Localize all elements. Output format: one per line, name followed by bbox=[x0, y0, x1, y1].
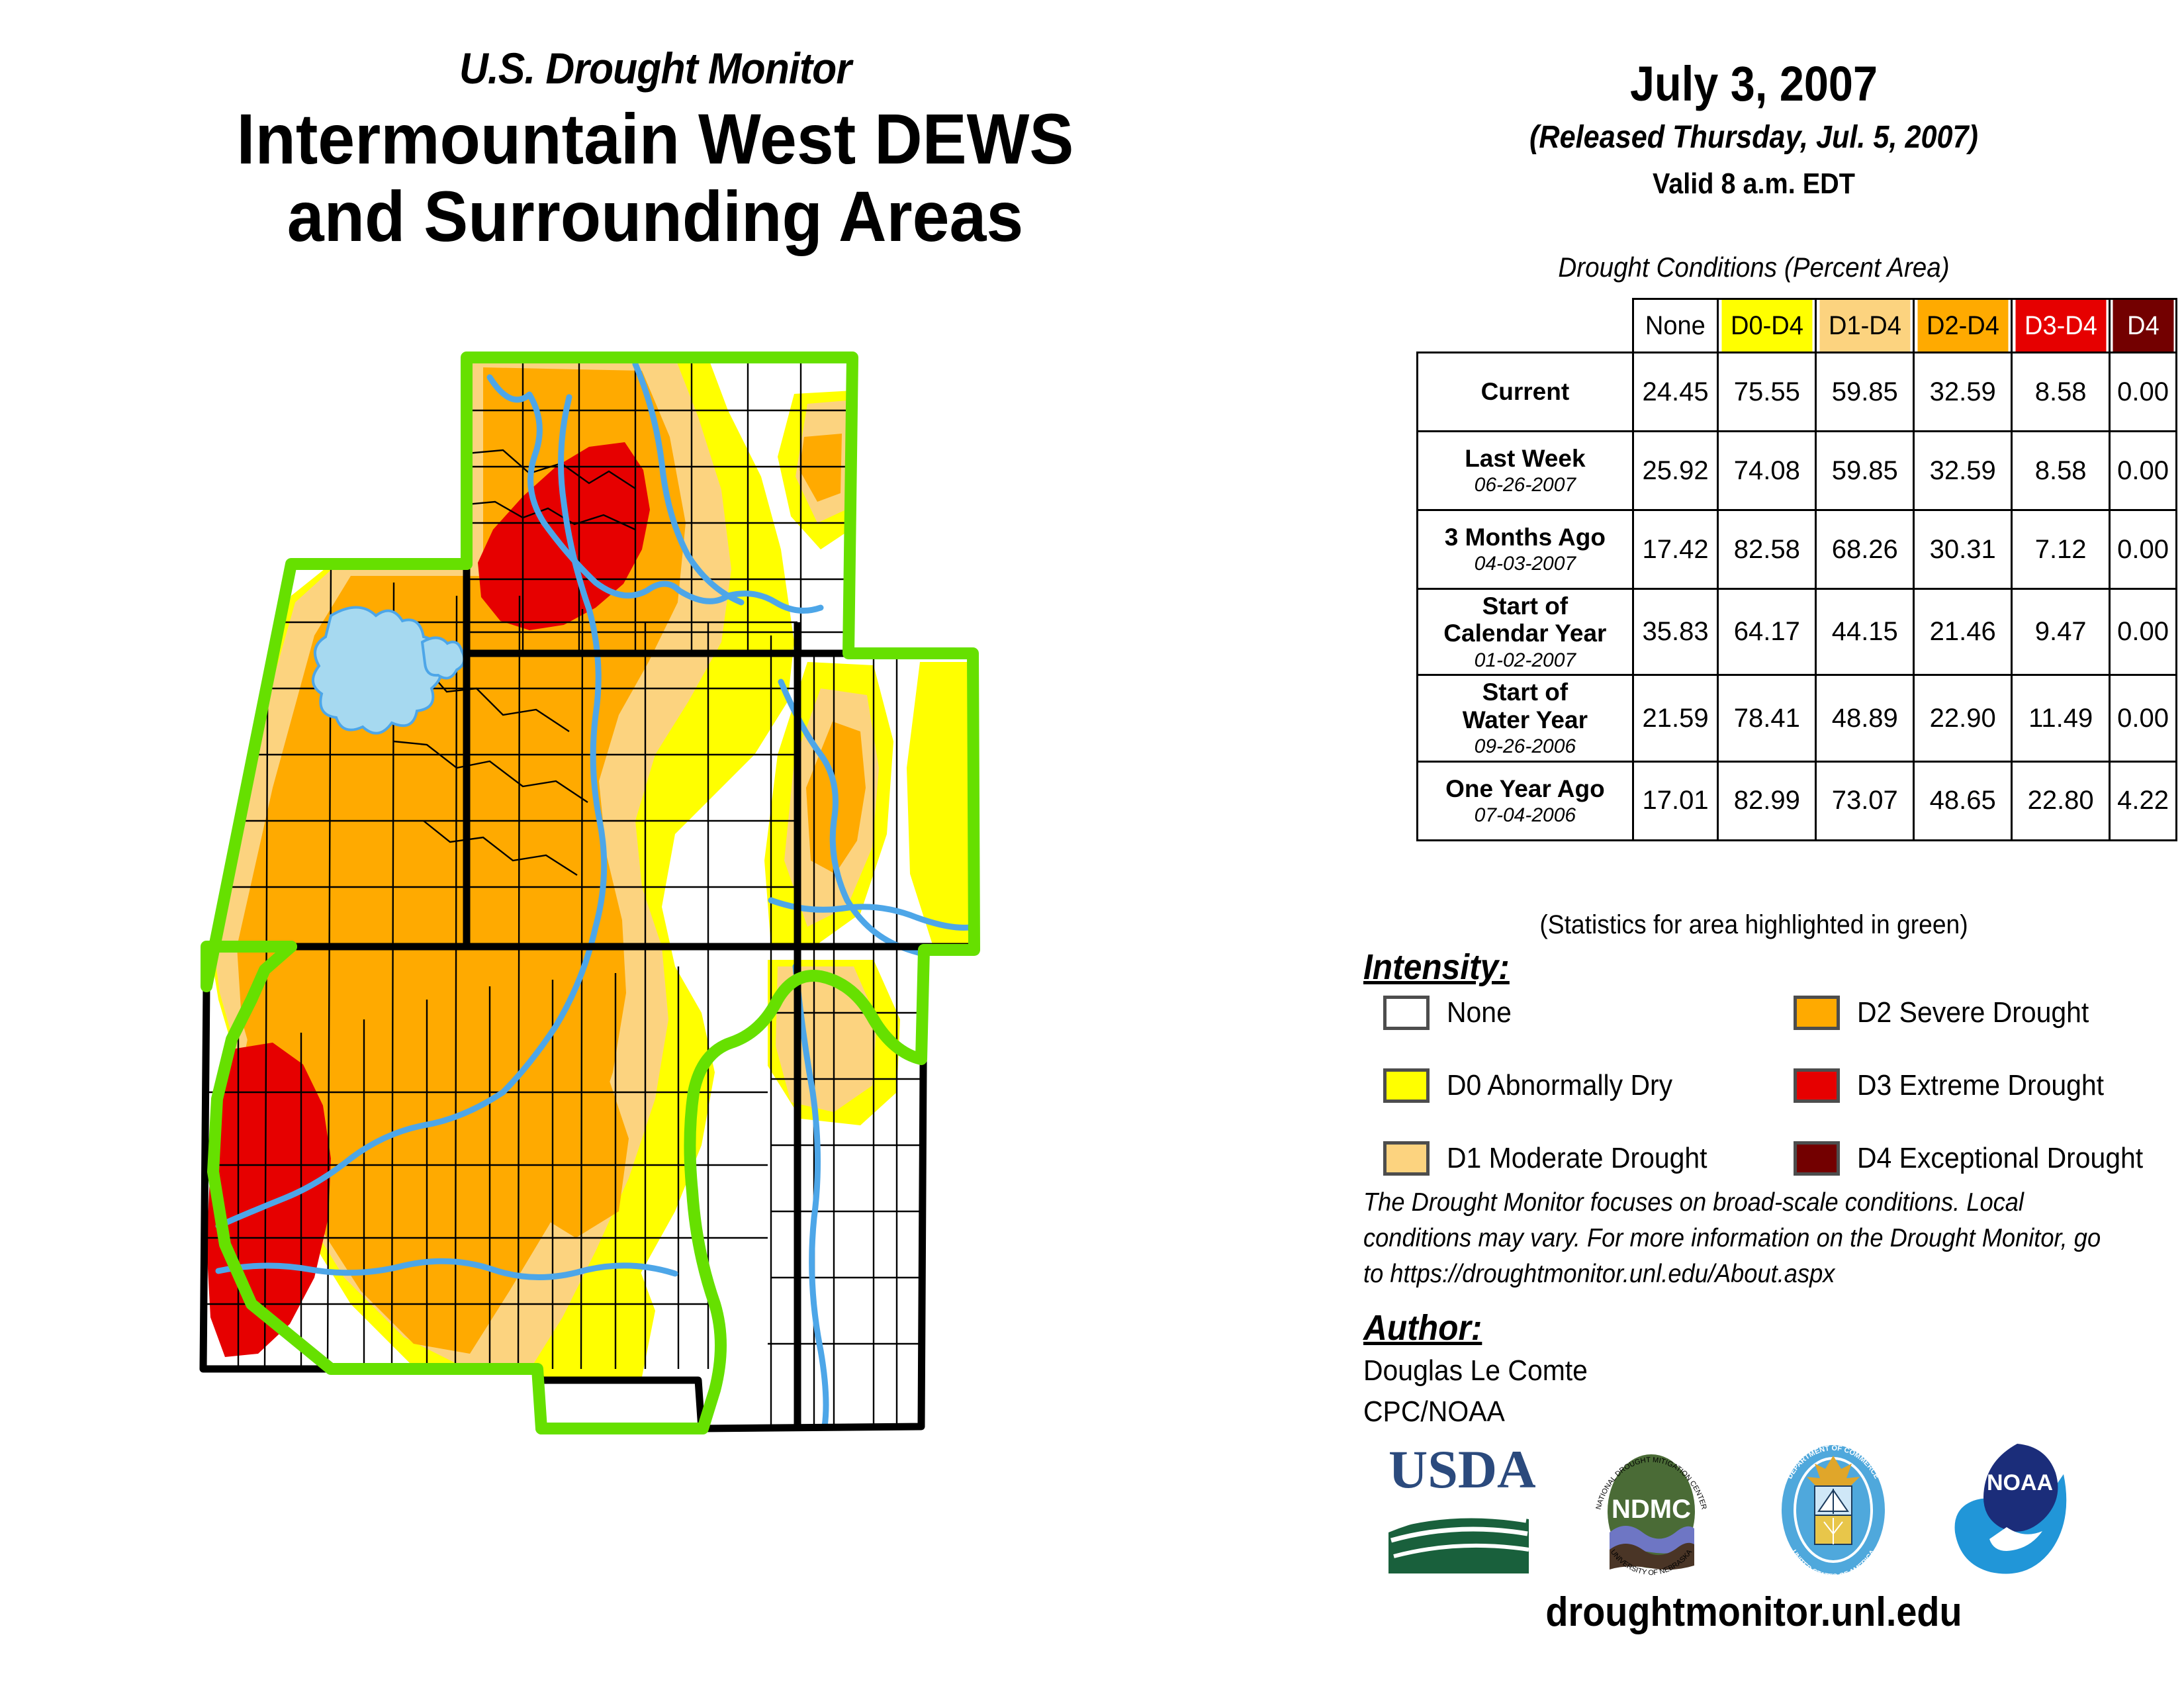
table-row: Last Week06-26-200725.9274.0859.8532.598… bbox=[1418, 432, 2177, 510]
author-name: Douglas Le Comte bbox=[1363, 1350, 1588, 1391]
table-cell: 21.46 bbox=[1914, 589, 2012, 675]
title-line-2: and Surrounding Areas bbox=[83, 178, 1228, 256]
valid-time-note: Valid 8 a.m. EDT bbox=[1367, 167, 2141, 201]
legend-label: D2 Severe Drought bbox=[1857, 996, 2089, 1029]
row-label-main: Start ofWater Year bbox=[1463, 679, 1588, 733]
legend-item: D0 Abnormally Dry bbox=[1383, 1059, 1727, 1112]
ndmc-logo-svg: NDMC NATIONAL DROUGHT MITIGATION CENTER … bbox=[1582, 1440, 1721, 1582]
logo-row: USDA NDMC NATIONAL DROUGHT MITI bbox=[1363, 1440, 2177, 1592]
table-body: Current24.4575.5559.8532.598.580.00Last … bbox=[1418, 353, 2177, 841]
header-d1-d4: D1-D4 bbox=[1818, 299, 1911, 353]
usda-logo: USDA bbox=[1383, 1440, 1535, 1582]
table-cell: 74.08 bbox=[1718, 432, 1816, 510]
disclaimer-text: The Drought Monitor focuses on broad-sca… bbox=[1363, 1185, 2120, 1291]
author-block: Douglas Le Comte CPC/NOAA bbox=[1363, 1350, 1588, 1433]
page-title: Intermountain West DEWS and Surrounding … bbox=[83, 101, 1228, 255]
row-label: 3 Months Ago04-03-2007 bbox=[1418, 510, 1633, 589]
super-title: U.S. Drought Monitor bbox=[89, 46, 1221, 90]
author-heading: Author: bbox=[1363, 1307, 1482, 1348]
ndmc-text: NDMC bbox=[1612, 1495, 1691, 1524]
legend-swatch bbox=[1383, 1141, 1430, 1176]
row-label-date: 01-02-2007 bbox=[1422, 649, 1628, 672]
row-label: Start ofCalendar Year01-02-2007 bbox=[1418, 589, 1633, 675]
table-cell: 25.92 bbox=[1633, 432, 1718, 510]
legend-swatch bbox=[1794, 996, 1840, 1030]
table-cell: 17.01 bbox=[1633, 761, 1718, 840]
row-label-main: One Year Ago bbox=[1445, 775, 1605, 802]
row-label: Current bbox=[1418, 353, 1633, 432]
table-cell: 0.00 bbox=[2110, 353, 2177, 432]
statistics-note: (Statistics for area highlighted in gree… bbox=[1354, 910, 2154, 940]
noaa-logo-svg: NOAA bbox=[1946, 1440, 2088, 1582]
table-cell: 82.58 bbox=[1718, 510, 1816, 589]
legend-label: D1 Moderate Drought bbox=[1447, 1142, 1707, 1175]
table-cell: 0.00 bbox=[2110, 510, 2177, 589]
table-cell: 59.85 bbox=[1816, 353, 1914, 432]
table-cell: 8.58 bbox=[2012, 432, 2110, 510]
table-cell: 0.00 bbox=[2110, 432, 2177, 510]
table-row: 3 Months Ago04-03-200717.4282.5868.2630.… bbox=[1418, 510, 2177, 589]
row-label-date: 04-03-2007 bbox=[1422, 553, 1628, 575]
table-cell: 0.00 bbox=[2110, 675, 2177, 761]
doc-logo: DEPARTMENT OF COMMERCE UNITED STATES OF … bbox=[1767, 1440, 1899, 1585]
drought-map[interactable] bbox=[132, 331, 1324, 1575]
table-row: One Year Ago07-04-200617.0182.9973.0748.… bbox=[1418, 761, 2177, 840]
author-affiliation: CPC/NOAA bbox=[1363, 1391, 1588, 1432]
issue-date: July 3, 2007 bbox=[1367, 60, 2141, 109]
table-cell: 22.80 bbox=[2012, 761, 2110, 840]
drought-map-svg[interactable] bbox=[132, 331, 1324, 1575]
row-label-date: 07-04-2006 bbox=[1422, 804, 1628, 827]
release-note: (Released Thursday, Jul. 5, 2007) bbox=[1367, 119, 2141, 156]
table-cell: 22.90 bbox=[1914, 675, 2012, 761]
table-cell: 9.47 bbox=[2012, 589, 2110, 675]
usda-logo-text: USDA bbox=[1388, 1440, 1535, 1499]
row-label-main: Current bbox=[1481, 378, 1570, 405]
table-cell: 35.83 bbox=[1633, 589, 1718, 675]
usda-logo-svg: USDA bbox=[1383, 1440, 1535, 1579]
table-cell: 7.12 bbox=[2012, 510, 2110, 589]
doc-logo-svg: DEPARTMENT OF COMMERCE UNITED STATES OF … bbox=[1767, 1440, 1899, 1582]
header-d0-d4: D0-D4 bbox=[1721, 299, 1814, 353]
row-label-main: Last Week bbox=[1465, 445, 1585, 472]
table-cell: 64.17 bbox=[1718, 589, 1816, 675]
table-row: Start ofCalendar Year01-02-200735.8364.1… bbox=[1418, 589, 2177, 675]
legend-column-left: NoneD0 Abnormally DryD1 Moderate Drought bbox=[1383, 986, 1727, 1205]
legend-label: D0 Abnormally Dry bbox=[1447, 1069, 1672, 1102]
table-cell: 30.31 bbox=[1914, 510, 2012, 589]
table-cell: 21.59 bbox=[1633, 675, 1718, 761]
table-row: Start ofWater Year09-26-200621.5978.4148… bbox=[1418, 675, 2177, 761]
legend-item: D4 Exceptional Drought bbox=[1794, 1132, 2165, 1185]
legend-label: None bbox=[1447, 996, 1512, 1029]
table-caption: Drought Conditions (Percent Area) bbox=[1358, 252, 2150, 283]
legend-heading: Intensity: bbox=[1363, 947, 1510, 988]
table-cell: 68.26 bbox=[1816, 510, 1914, 589]
table-cell: 32.59 bbox=[1914, 353, 2012, 432]
header-none: None bbox=[1635, 299, 1715, 353]
legend-swatch bbox=[1383, 996, 1430, 1030]
drought-statistics-table: None D0-D4 D1-D4 D2-D4 D3-D4 D4 Current2… bbox=[1416, 298, 2177, 841]
row-label-main: 3 Months Ago bbox=[1445, 524, 1606, 551]
header-blank-cell bbox=[1423, 299, 1627, 353]
row-label: One Year Ago07-04-2006 bbox=[1418, 761, 1633, 840]
title-line-1: Intermountain West DEWS bbox=[83, 101, 1228, 178]
row-label: Last Week06-26-2007 bbox=[1418, 432, 1633, 510]
title-block: U.S. Drought Monitor Intermountain West … bbox=[40, 46, 1271, 255]
legend-item: D1 Moderate Drought bbox=[1383, 1132, 1727, 1185]
legend-swatch bbox=[1794, 1141, 1840, 1176]
table-cell: 4.22 bbox=[2110, 761, 2177, 840]
table-row: Current24.4575.5559.8532.598.580.00 bbox=[1418, 353, 2177, 432]
legend-label: D3 Extreme Drought bbox=[1857, 1069, 2104, 1102]
table-cell: 75.55 bbox=[1718, 353, 1816, 432]
header-d2-d4: D2-D4 bbox=[1916, 299, 2009, 353]
date-block: July 3, 2007 (Released Thursday, Jul. 5,… bbox=[1324, 60, 2184, 201]
header-d3-d4: D3-D4 bbox=[2014, 299, 2107, 353]
table-cell: 78.41 bbox=[1718, 675, 1816, 761]
right-panel: July 3, 2007 (Released Thursday, Jul. 5,… bbox=[1324, 0, 2184, 1688]
table-cell: 11.49 bbox=[2012, 675, 2110, 761]
table-cell: 44.15 bbox=[1816, 589, 1914, 675]
ndmc-logo: NDMC NATIONAL DROUGHT MITIGATION CENTER … bbox=[1582, 1440, 1721, 1585]
table-cell: 0.00 bbox=[2110, 589, 2177, 675]
table-cell: 48.65 bbox=[1914, 761, 2012, 840]
table-cell: 48.89 bbox=[1816, 675, 1914, 761]
legend-column-right: D2 Severe DroughtD3 Extreme DroughtD4 Ex… bbox=[1794, 986, 2165, 1205]
row-label: Start ofWater Year09-26-2006 bbox=[1418, 675, 1633, 761]
legend-swatch bbox=[1794, 1068, 1840, 1103]
legend-item: None bbox=[1383, 986, 1727, 1039]
legend-item: D2 Severe Drought bbox=[1794, 986, 2165, 1039]
table-cell: 24.45 bbox=[1633, 353, 1718, 432]
table-cell: 82.99 bbox=[1718, 761, 1816, 840]
table-cell: 17.42 bbox=[1633, 510, 1718, 589]
table-header-row: None D0-D4 D1-D4 D2-D4 D3-D4 D4 bbox=[1418, 299, 2177, 353]
row-label-date: 06-26-2007 bbox=[1422, 474, 1628, 496]
table-cell: 32.59 bbox=[1914, 432, 2012, 510]
legend-label: D4 Exceptional Drought bbox=[1857, 1142, 2143, 1175]
table-cell: 8.58 bbox=[2012, 353, 2110, 432]
legend-swatch bbox=[1383, 1068, 1430, 1103]
left-panel: U.S. Drought Monitor Intermountain West … bbox=[0, 0, 1324, 1688]
noaa-logo: NOAA bbox=[1946, 1440, 2088, 1585]
table-cell: 73.07 bbox=[1816, 761, 1914, 840]
legend-item: D3 Extreme Drought bbox=[1794, 1059, 2165, 1112]
row-label-date: 09-26-2006 bbox=[1422, 735, 1628, 758]
site-url[interactable]: droughtmonitor.unl.edu bbox=[1367, 1589, 2141, 1636]
table-cell: 59.85 bbox=[1816, 432, 1914, 510]
noaa-text: NOAA bbox=[1987, 1470, 2053, 1495]
header-d4: D4 bbox=[2111, 299, 2175, 353]
row-label-main: Start ofCalendar Year bbox=[1443, 592, 1606, 647]
